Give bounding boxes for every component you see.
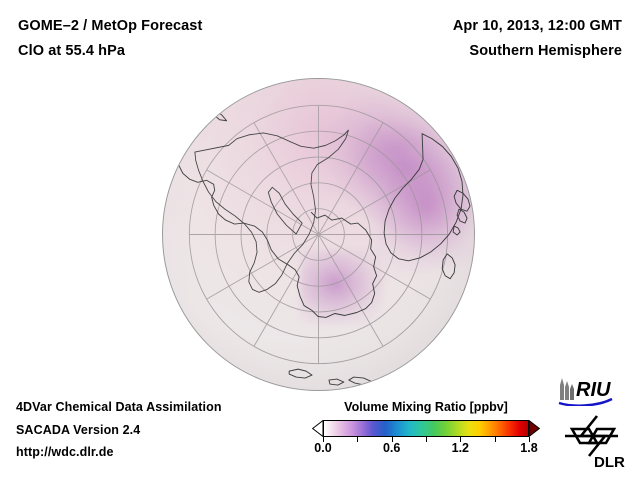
header-species-level: ClO at 55.4 hPa [18,43,125,59]
colorbar-tick-labels: 0.00.61.21.8 [312,441,540,459]
dlr-wordmark: DLR [594,454,625,470]
dlr-arrow-mark-icon [565,416,618,456]
colorbar: Volume Mixing Ratio [ppbv] 0.00.61.21.8 [312,400,540,459]
header-datetime: Apr 10, 2013, 12:00 GMT [453,18,622,34]
globe-shading [163,79,474,390]
header: GOME–2 / MetOp Forecast ClO at 55.4 hPa … [0,0,640,78]
riu-logo: RIU [556,374,634,406]
footer-credits: 4DVar Chemical Data Assimilation SACADA … [16,400,316,468]
colorbar-arrow-left [312,420,323,437]
colorbar-bar [312,420,540,437]
footer-line-method: 4DVar Chemical Data Assimilation [16,400,316,414]
footer-line-version: SACADA Version 2.4 [16,423,316,437]
globe-orthographic-projection [162,78,475,391]
dlr-logo: DLR [556,412,634,470]
riu-tower-icon [560,378,574,400]
map-area [0,70,640,395]
colorbar-title: Volume Mixing Ratio [ppbv] [312,400,540,414]
header-region: Southern Hemisphere [469,43,622,59]
colorbar-label-0: 0.0 [314,441,331,455]
colorbar-arrow-right [529,420,540,437]
header-instrument-title: GOME–2 / MetOp Forecast [18,18,202,34]
colorbar-gradient [323,420,529,437]
globe-disc [162,78,475,391]
footer-line-url[interactable]: http://wdc.dlr.de [16,445,316,459]
colorbar-label-1: 0.6 [383,441,400,455]
colorbar-label-2: 1.2 [452,441,469,455]
riu-wordmark: RIU [576,379,611,401]
colorbar-label-3: 1.8 [520,441,537,455]
